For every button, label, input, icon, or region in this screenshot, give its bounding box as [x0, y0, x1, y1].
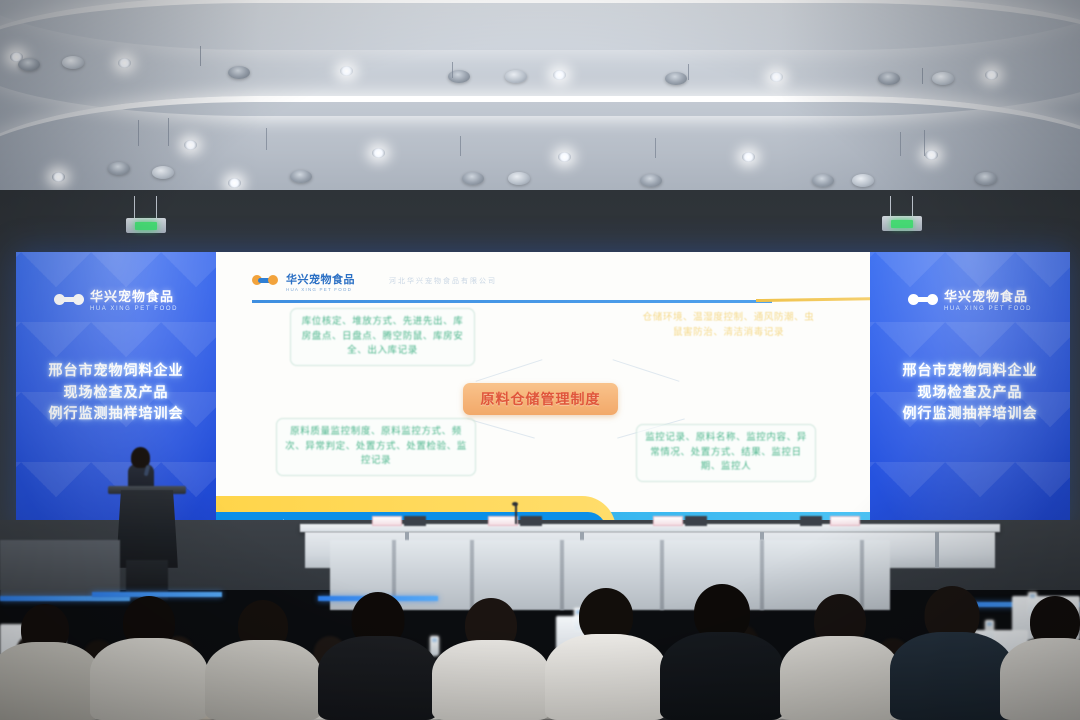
downlight-icon	[118, 58, 131, 68]
exit-sign-cable	[890, 196, 891, 218]
brand-name-cn: 华兴宠物食品	[90, 286, 178, 305]
downlight-icon	[52, 172, 65, 182]
ceiling-speaker-icon	[462, 172, 484, 185]
event-title-left: 邢台市宠物饲料企业 现场检查及产品 例行监测抽样培训会	[22, 360, 210, 425]
audience-member	[1000, 596, 1080, 720]
slide-brand-cn: 华兴宠物食品	[286, 271, 355, 287]
bone-icon	[252, 275, 278, 287]
led-right-panel: 华兴宠物食品 HUA XING PET FOOD 邢台市宠物饲料企业 现场检查及…	[870, 252, 1070, 530]
event-title-line: 邢台市宠物饲料企业	[876, 360, 1064, 382]
audience-member	[318, 592, 438, 720]
brand-name-en: HUA XING PET FOOD	[90, 306, 178, 312]
nameplate-holder	[685, 516, 707, 526]
ceiling-shadow-right	[780, 0, 1080, 196]
ceiling-shadow-left	[0, 0, 260, 196]
diagram-connector	[467, 418, 535, 438]
nameplate	[830, 516, 860, 526]
audience-member	[780, 594, 900, 720]
ceiling-speaker-icon	[878, 72, 900, 85]
diagram-connector	[613, 359, 680, 382]
downlight-icon	[372, 148, 385, 158]
person-shoulders	[660, 632, 784, 720]
slide-rule-blue	[252, 300, 772, 303]
audience-member	[205, 600, 321, 720]
diagram-connector	[476, 359, 543, 382]
brand-name-en: HUA XING PET FOOD	[944, 306, 1032, 312]
slide-center-title: 原料仓储管理制度	[481, 389, 601, 409]
ceiling-speaker-icon	[18, 58, 40, 71]
ceiling-speaker-icon	[812, 174, 834, 187]
event-title-line: 现场检查及产品	[22, 382, 210, 404]
slide-brand-en: HUA XING PET FOOD	[286, 287, 355, 292]
audience-member	[890, 586, 1014, 720]
downlight-icon	[184, 140, 197, 150]
event-title-right: 邢台市宠物饲料企业 现场检查及产品 例行监测抽样培训会	[876, 360, 1064, 425]
audience-member	[660, 584, 784, 720]
exit-icon	[891, 220, 913, 228]
person-shoulders	[545, 634, 667, 720]
exit-icon	[135, 222, 157, 230]
ceiling-speaker-icon	[975, 172, 997, 185]
nameplate-holder	[800, 516, 822, 526]
ceiling-hanger	[688, 64, 689, 80]
ceiling-hanger	[460, 136, 461, 156]
ceiling	[0, 0, 1080, 196]
ceiling-speaker-icon	[108, 162, 130, 175]
person-shoulders	[1000, 638, 1080, 720]
ceiling-speaker-icon	[62, 56, 84, 69]
ceiling-hanger	[655, 138, 656, 158]
ceiling-speaker-icon	[665, 72, 687, 85]
ceiling-hanger	[922, 68, 923, 84]
exit-sign-left	[126, 218, 166, 233]
audience-member	[432, 598, 550, 720]
bone-icon	[908, 293, 938, 306]
downlight-icon	[742, 152, 755, 162]
nameplate	[653, 516, 683, 526]
brand-logo-right: 华兴宠物食品 HUA XING PET FOOD	[870, 286, 1070, 312]
exit-sign-cable	[912, 196, 913, 218]
person-shoulders	[205, 640, 321, 720]
ceiling-speaker-icon	[505, 70, 527, 83]
slide-box-bottom-left: 原料质量监控制度、原料监控方式、频次、异常判定、处置方式、处置检验、监控记录	[276, 418, 476, 476]
ceiling-speaker-icon	[228, 66, 250, 79]
person-shoulders	[780, 636, 900, 720]
ceiling-hanger	[168, 118, 169, 146]
exit-sign-cable	[156, 196, 157, 220]
ceiling-hanger	[138, 120, 139, 146]
audience-member	[545, 588, 667, 720]
downlight-icon	[340, 66, 353, 76]
exit-sign-cable	[134, 196, 135, 220]
downlight-icon	[558, 152, 571, 162]
event-title-line: 邢台市宠物饲料企业	[22, 360, 210, 382]
slide-center-title-box: 原料仓储管理制度	[463, 383, 618, 415]
ceiling-hanger	[924, 130, 925, 156]
person-shoulders	[432, 640, 550, 720]
nameplate-holder	[520, 516, 542, 526]
ceiling-speaker-icon	[640, 174, 662, 187]
nameplate-holder	[404, 516, 426, 526]
slide-header: 华兴宠物食品 HUA XING PET FOOD 河北华兴宠物食品有限公司	[252, 264, 850, 298]
brand-name-cn: 华兴宠物食品	[944, 286, 1032, 305]
bone-icon	[54, 293, 84, 306]
person-shoulders	[890, 632, 1014, 720]
nameplate	[372, 516, 402, 526]
downlight-icon	[770, 72, 783, 82]
presentation-slide: 华兴宠物食品 HUA XING PET FOOD 河北华兴宠物食品有限公司 库位…	[216, 252, 870, 530]
exit-sign-right	[882, 216, 922, 231]
slide-header-note: 河北华兴宠物食品有限公司	[389, 276, 497, 286]
ceiling-hanger	[900, 132, 901, 156]
slide-box-top-right: 仓储环境、温湿度控制、通风防潮、虫鼠害防治、清洁消毒记录	[641, 310, 816, 340]
table-microphone-stand	[515, 504, 517, 524]
audience-member	[0, 604, 100, 720]
ceiling-speaker-icon	[932, 72, 954, 85]
person-shoulders	[90, 638, 208, 720]
downlight-icon	[925, 150, 938, 160]
person-shoulders	[0, 642, 100, 720]
nameplate	[488, 516, 518, 526]
downlight-icon	[553, 70, 566, 80]
event-title-line: 例行监测抽样培训会	[22, 403, 210, 425]
conference-hall-photo: 华兴宠物食品 HUA XING PET FOOD 邢台市宠物饲料企业 现场检查及…	[0, 0, 1080, 720]
event-title-line: 例行监测抽样培训会	[876, 403, 1064, 425]
ceiling-hanger	[266, 128, 267, 150]
ceiling-speaker-icon	[290, 170, 312, 183]
ceiling-speaker-icon	[852, 174, 874, 187]
ceiling-speaker-icon	[508, 172, 530, 185]
audience-member	[90, 596, 208, 720]
ceiling-hanger	[452, 62, 453, 78]
slide-box-top-left: 库位核定、堆放方式、先进先出、库房盘点、日盘点、腾空防鼠、库房安全、出入库记录	[290, 308, 475, 366]
person-shoulders	[318, 636, 438, 720]
downlight-icon	[228, 178, 241, 188]
ceiling-speaker-icon	[152, 166, 174, 179]
downlight-icon	[985, 70, 998, 80]
table-microphone-head	[512, 502, 518, 506]
ceiling-hanger	[200, 46, 201, 66]
brand-logo-left: 华兴宠物食品 HUA XING PET FOOD	[16, 286, 216, 312]
slide-box-bottom-right: 监控记录、原料名称、监控内容、异常情况、处置方式、结果、监控日期、监控人	[636, 424, 816, 482]
audience: RIM ANGE	[0, 548, 1080, 720]
event-title-line: 现场检查及产品	[876, 382, 1064, 404]
